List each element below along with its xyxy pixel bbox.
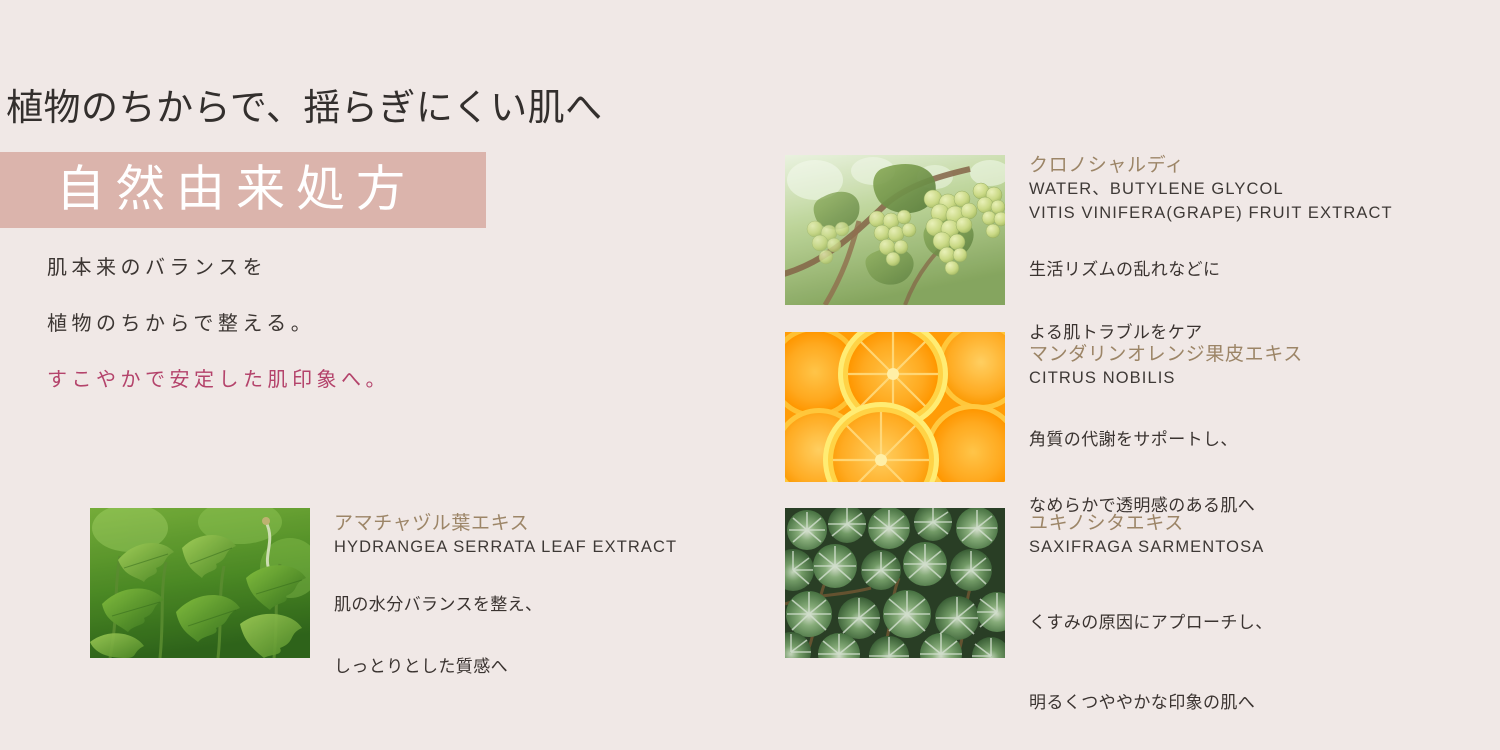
- ingredient-desc-line-1: 生活リズムの乱れなどに: [1029, 254, 1499, 286]
- banner-label: 自然由来処方: [56, 166, 416, 215]
- ingredient-inci-line-2: VITIS VINIFERA(GRAPE) FRUIT EXTRACT: [1029, 203, 1499, 225]
- grape-photo: [785, 155, 1005, 305]
- intro-body-line-2: 植物のちからで整える。: [47, 314, 567, 334]
- ingredient-desc-line-1: 角質の代謝をサポートし、: [1029, 424, 1499, 456]
- intro-body-line-3-accent: すこやかで安定した肌印象へ。: [47, 370, 567, 390]
- ingredient-inci-line-1: CITRUS NOBILIS: [1029, 368, 1499, 390]
- intro-body: 肌本来のバランスを 植物のちからで整える。 すこやかで安定した肌印象へ。: [47, 258, 567, 390]
- ingredient-name: ユキノシタエキス: [1029, 513, 1459, 535]
- ingredient-inci-line-1: SAXIFRAGA SARMENTOSA: [1029, 537, 1459, 559]
- ingredient-text-chronoshardy: クロノシャルディ WATER、BUTYLENE GLYCOL VITIS VIN…: [1029, 155, 1499, 349]
- ingredient-text-mandarin: マンダリンオレンジ果皮エキス CITRUS NOBILIS 角質の代謝をサポート…: [1029, 344, 1499, 522]
- natural-formula-banner: 自然由来処方: [0, 152, 486, 228]
- ingredient-desc-line-1: 肌の水分バランスを整え、: [334, 589, 764, 621]
- ingredient-inci-line-1: WATER、BUTYLENE GLYCOL: [1029, 179, 1499, 201]
- ingredient-inci-line-1: HYDRANGEA SERRATA LEAF EXTRACT: [334, 537, 764, 559]
- ingredient-desc-line-2: しっとりとした質感へ: [334, 651, 764, 683]
- orange-slices-photo: [785, 332, 1005, 482]
- ingredient-desc-line-1: くすみの原因にアプローチし、: [1029, 607, 1459, 639]
- intro-headline: 植物のちからで、揺らぎにくい肌へ: [6, 88, 603, 129]
- promo-banner-page: 植物のちからで、揺らぎにくい肌へ 自然由来処方 肌本来のバランスを 植物のちから…: [0, 0, 1500, 750]
- ingredient-text-jiaogulan: アマチャヅル葉エキス HYDRANGEA SERRATA LEAF EXTRAC…: [334, 513, 764, 683]
- jiaogulan-leaves-photo: [90, 508, 310, 658]
- ingredient-name: アマチャヅル葉エキス: [334, 513, 764, 535]
- intro-body-line-1: 肌本来のバランスを: [47, 258, 567, 278]
- ingredient-desc-line-2: 明るくつややかな印象の肌へ: [1029, 687, 1459, 719]
- ingredient-name: マンダリンオレンジ果皮エキス: [1029, 344, 1499, 366]
- saxifraga-leaves-photo: [785, 508, 1005, 658]
- ingredient-name: クロノシャルディ: [1029, 155, 1499, 177]
- ingredient-text-saxifraga: ユキノシタエキス SAXIFRAGA SARMENTOSA くすみの原因にアプロ…: [1029, 513, 1459, 719]
